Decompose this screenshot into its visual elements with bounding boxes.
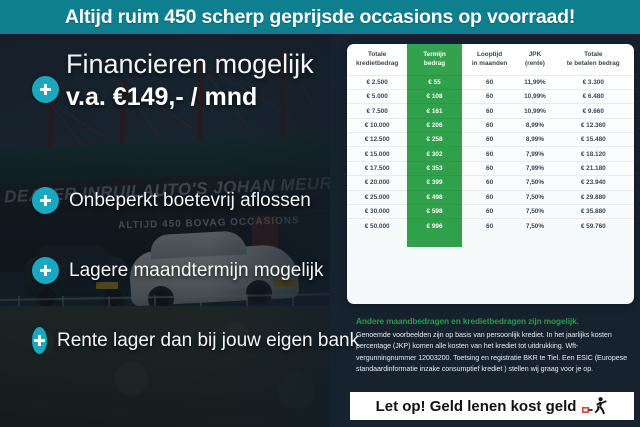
table-cell: € 18.120	[553, 147, 634, 161]
promo-bullet-label: Onbeperkt boetevrij aflossen	[69, 191, 311, 210]
table-cell: € 598	[407, 204, 462, 218]
table-cell: 60	[462, 204, 518, 218]
col-header-term-amount: Termijnbedrag	[407, 44, 462, 75]
table-cell: 60	[462, 176, 518, 190]
afm-running-man-icon	[582, 396, 608, 416]
rate-table-body: € 2.500€ 556011,99%€ 3.300€ 5.000€ 10860…	[347, 75, 634, 233]
table-cell: € 55	[407, 75, 462, 89]
table-cell: € 353	[407, 161, 462, 175]
rate-table-card: Totalekredietbedrag Termijnbedrag Loopti…	[347, 44, 634, 304]
table-row: € 20.000€ 399607,50%€ 23.940	[347, 176, 634, 190]
table-cell: € 108	[407, 89, 462, 103]
table-cell: € 30.000	[347, 204, 407, 218]
table-cell: 7,50%	[517, 176, 552, 190]
table-cell: € 59.760	[553, 219, 634, 233]
table-row: € 50.000€ 996607,50%€ 59.760	[347, 219, 634, 233]
table-row: € 2.500€ 556011,99%€ 3.300	[347, 75, 634, 89]
col-header-total-credit: Totalekredietbedrag	[347, 44, 407, 75]
table-cell: 60	[462, 190, 518, 204]
table-cell: 11,99%	[517, 75, 552, 89]
table-cell: € 3.300	[553, 75, 634, 89]
promo-headline: Financieren mogelijk	[66, 50, 346, 78]
table-cell: 8,99%	[517, 133, 552, 147]
table-cell: € 5.000	[347, 89, 407, 103]
table-cell: € 996	[407, 219, 462, 233]
table-row: € 5.000€ 1086010,99%€ 6.480	[347, 89, 634, 103]
table-cell: € 20.000	[347, 176, 407, 190]
rate-table: Totalekredietbedrag Termijnbedrag Loopti…	[347, 44, 634, 233]
table-cell: € 29.880	[553, 190, 634, 204]
table-cell: 10,99%	[517, 89, 552, 103]
table-cell: € 7.500	[347, 104, 407, 118]
table-row: € 17.500€ 353607,99%€ 21.180	[347, 161, 634, 175]
table-cell: € 302	[407, 147, 462, 161]
table-cell: € 6.480	[553, 89, 634, 103]
table-cell: € 258	[407, 133, 462, 147]
plus-icon	[32, 76, 59, 103]
table-cell: € 50.000	[347, 219, 407, 233]
table-cell: 7,50%	[517, 190, 552, 204]
disclaimer-title: Andere maandbedragen en kredietbedragen …	[356, 316, 628, 326]
table-cell: € 161	[407, 104, 462, 118]
table-cell: € 12.360	[553, 118, 634, 132]
table-cell: 7,50%	[517, 219, 552, 233]
banner-text: Altijd ruim 450 scherp geprijsde occasio…	[65, 6, 575, 29]
promo-bullet-0: Onbeperkt boetevrij aflossen	[32, 185, 352, 215]
top-banner: Altijd ruim 450 scherp geprijsde occasio…	[0, 0, 640, 34]
table-cell: € 21.180	[553, 161, 634, 175]
table-cell: € 15.480	[553, 133, 634, 147]
table-cell: € 206	[407, 118, 462, 132]
col-header-jpk: JPK(rente)	[517, 44, 552, 75]
table-row: € 10.000€ 206608,99%€ 12.360	[347, 118, 634, 132]
table-cell: € 9.660	[553, 104, 634, 118]
table-cell: 7,99%	[517, 147, 552, 161]
table-header-row: Totalekredietbedrag Termijnbedrag Loopti…	[347, 44, 634, 75]
table-cell: € 399	[407, 176, 462, 190]
promo-bullet-label: Lagere maandtermijn mogelijk	[69, 261, 324, 280]
table-cell: 8,99%	[517, 118, 552, 132]
table-cell: 60	[462, 75, 518, 89]
col-header-total-payable: Totalete betalen bedrag	[553, 44, 634, 75]
plus-icon	[32, 327, 47, 354]
table-row: € 15.000€ 302607,99%€ 18.120	[347, 147, 634, 161]
plus-icon	[32, 187, 59, 214]
table-cell: 60	[462, 219, 518, 233]
plus-icon	[32, 257, 59, 284]
table-row: € 7.500€ 1616010,99%€ 9.660	[347, 104, 634, 118]
credit-warning-text: Let op! Geld lenen kost geld	[376, 398, 577, 415]
table-cell: 60	[462, 89, 518, 103]
table-cell: 60	[462, 161, 518, 175]
table-cell: € 12.500	[347, 133, 407, 147]
promo-bullet-2: Rente lager dan bij jouw eigen bank	[32, 325, 352, 355]
table-cell: € 15.000	[347, 147, 407, 161]
credit-warning-bar: Let op! Geld lenen kost geld	[350, 392, 634, 420]
promo-bullet-1: Lagere maandtermijn mogelijk	[32, 255, 352, 285]
table-cell: 60	[462, 147, 518, 161]
table-cell: € 17.500	[347, 161, 407, 175]
table-cell: 60	[462, 133, 518, 147]
table-cell: € 25.000	[347, 190, 407, 204]
table-cell: 60	[462, 118, 518, 132]
rate-table-head: Totalekredietbedrag Termijnbedrag Loopti…	[347, 44, 634, 75]
table-cell: € 23.940	[553, 176, 634, 190]
table-cell: 7,50%	[517, 204, 552, 218]
disclaimer-body: Genoemde voorbeelden zijn op basis van p…	[356, 330, 628, 376]
table-row: € 30.000€ 598607,50%€ 35.880	[347, 204, 634, 218]
table-cell: 7,99%	[517, 161, 552, 175]
table-cell: € 35.880	[553, 204, 634, 218]
table-cell: 60	[462, 104, 518, 118]
disclaimer-block: Andere maandbedragen en kredietbedragen …	[356, 316, 628, 376]
promo-copy: Financieren mogelijk v.a. €149,- / mnd O…	[0, 34, 345, 427]
table-row: € 12.500€ 258608,99%€ 15.480	[347, 133, 634, 147]
promo-subheadline: v.a. €149,- / mnd	[66, 84, 346, 110]
promo-bullet-label: Rente lager dan bij jouw eigen bank	[57, 331, 359, 350]
table-cell: 10,99%	[517, 104, 552, 118]
col-header-duration: Looptijdin maanden	[462, 44, 518, 75]
table-cell: € 10.000	[347, 118, 407, 132]
table-row: € 25.000€ 498607,50%€ 29.880	[347, 190, 634, 204]
table-cell: € 498	[407, 190, 462, 204]
table-cell: € 2.500	[347, 75, 407, 89]
